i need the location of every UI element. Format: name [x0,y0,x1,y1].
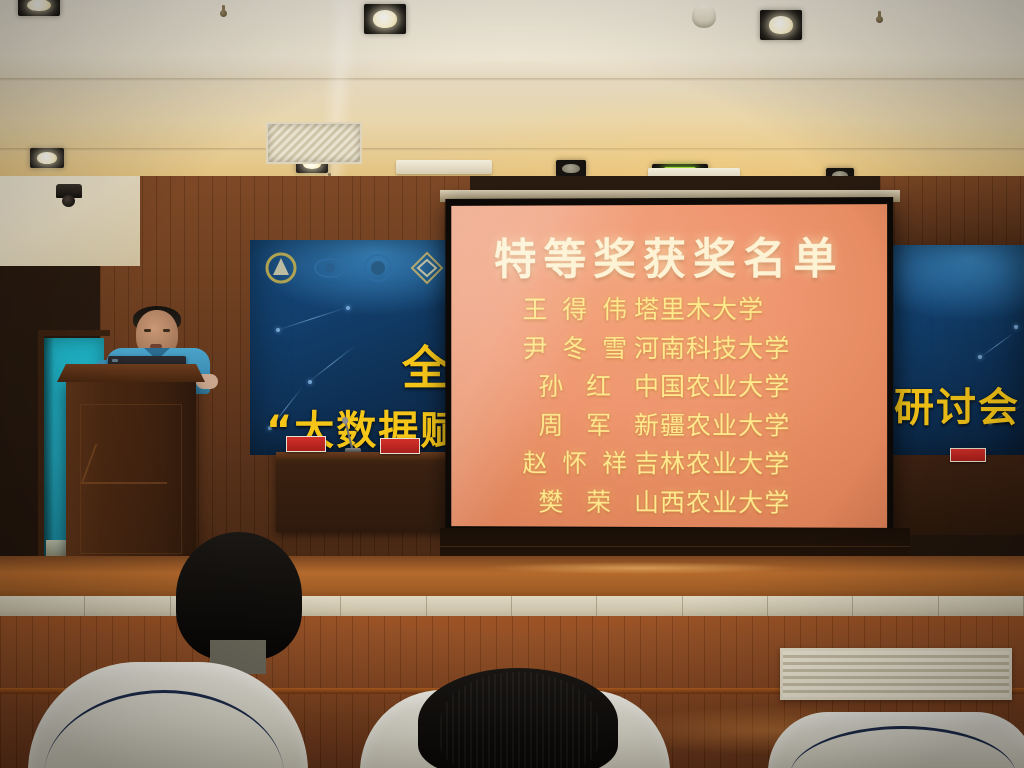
winner-organization: 中国农业大学 [634,370,820,405]
sprinkler-head [220,10,227,17]
air-vent-diffuser [266,122,362,164]
ceiling-seam [0,78,1024,81]
banner-title-fragment-right: 研讨会 [894,375,1020,433]
light-bulb-glow [27,0,51,11]
red-name-card [950,448,986,462]
security-camera-icon [56,184,82,198]
podium [66,378,196,578]
organizer-logos [264,248,444,288]
winner-row: 周军 新疆农业大学 [517,408,821,443]
ceiling [0,0,1024,200]
winner-row: 赵怀祥 吉林农业大学 [517,447,821,482]
winner-organization: 吉林农业大学 [634,447,820,482]
recessed-downlight [760,10,802,40]
wall-wood-panel [880,176,1024,256]
recessed-downlight [30,148,64,168]
light-bulb-glow [373,10,397,27]
light-bulb-glow [769,16,793,33]
recessed-downlight [18,0,60,16]
speaker-eye [163,329,170,332]
ceiling-seam [0,148,1024,151]
red-name-card [286,436,326,452]
light-bulb-glow [562,164,579,174]
stage-floor-reflection [430,560,850,576]
recessed-downlight [556,160,586,177]
winner-name: 赵怀祥 [517,447,634,482]
winner-name: 尹冬雪 [517,332,634,366]
head-table [276,452,460,532]
panel-seam [440,546,910,547]
smoke-detector [692,4,716,28]
winners-list: 王得伟 塔里木大学 尹冬雪 河南科技大学 孙红 中国农业大学 周军 新疆农业大学… [451,293,887,521]
head-table-right [890,455,1024,535]
projection-screen-surface: 特等奖获奖名单 王得伟 塔里木大学 尹冬雪 河南科技大学 孙红 中国农业大学 周… [451,204,887,528]
winner-organization: 塔里木大学 [634,293,820,328]
round-emblem-logo [361,251,395,285]
winner-name: 王得伟 [517,293,634,328]
winner-organization: 河南科技大学 [634,331,820,366]
podium-decor-line [81,444,182,484]
winner-row: 王得伟 塔里木大学 [517,293,821,328]
attendee-hair-strands [440,672,598,768]
sprinkler-head [876,16,883,23]
triangle-emblem-logo [264,251,298,285]
conference-backdrop-banner-right: 研讨会 [890,245,1024,460]
speaker-eye [144,329,151,332]
winner-organization: 新疆农业大学 [634,408,820,443]
light-bulb-glow [37,152,57,164]
table-top-edge [276,452,460,460]
winner-name: 周军 [517,408,634,443]
eye-emblem-logo [313,251,347,285]
red-name-card [380,438,420,454]
wall-return-air-grille [780,648,1012,700]
winner-organization: 山西农业大学 [634,485,820,520]
winner-name: 孙红 [517,370,634,404]
banner-title-fragment: 全 [402,332,450,398]
projection-screen-frame: 特等奖获奖名单 王得伟 塔里木大学 尹冬雪 河南科技大学 孙红 中国农业大学 周… [445,197,893,537]
winner-row: 樊荣 山西农业大学 [517,485,821,521]
conference-backdrop-banner-left: 全 “大数据赋 办单 [250,240,460,455]
winner-row: 尹冬雪 河南科技大学 [517,331,821,366]
winner-row: 孙红 中国农业大学 [517,370,821,405]
conference-photo-scene: 全 “大数据赋 办单 研讨会 特等奖获奖名单 王得伟 塔里木大学 [0,0,1024,768]
air-supply-bar [396,160,492,174]
slide-title: 特等奖获奖名单 [451,224,887,287]
recessed-downlight [364,4,406,34]
podium-top-surface [57,364,205,382]
diamond-emblem-logo [410,251,444,285]
winner-name: 樊荣 [517,485,634,520]
